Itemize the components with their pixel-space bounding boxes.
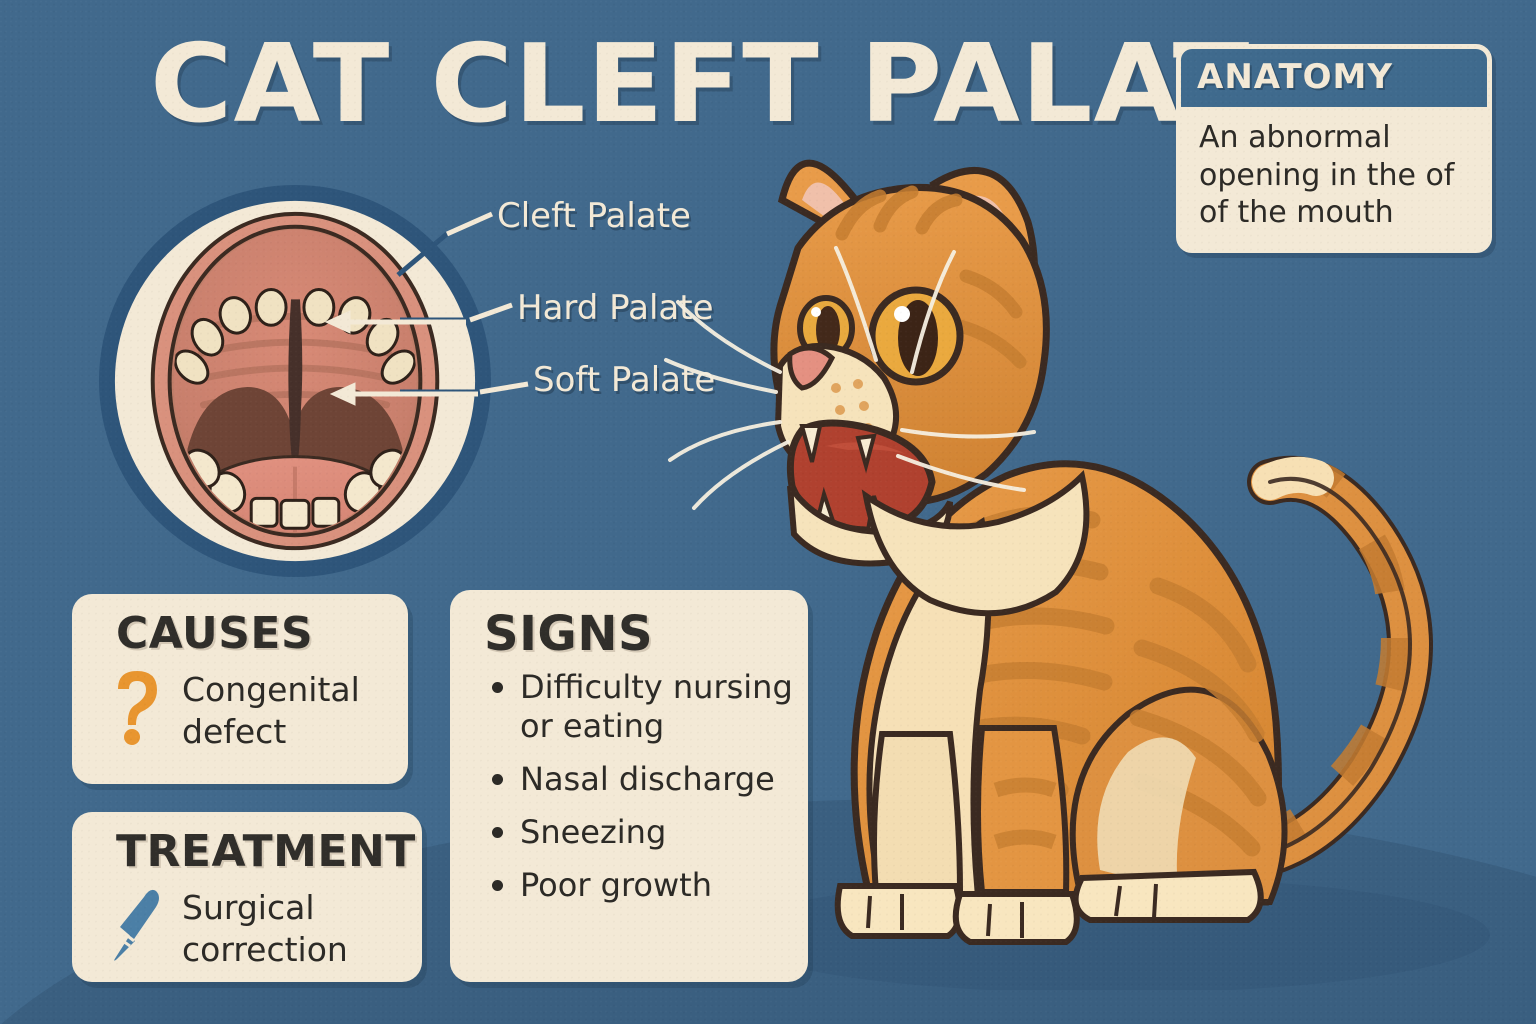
page-title: CAT CLEFT PALAT [150, 34, 1250, 137]
treatment-text: Surgical correction [182, 883, 404, 971]
list-item: Poor growth [490, 866, 798, 905]
causes-text: Congenital defect [182, 665, 390, 753]
signs-panel: SIGNS Difficulty nursing or eating Nasal… [450, 590, 808, 982]
infographic-poster: CAT CLEFT PALAT ANATOMY An abnormal open… [0, 0, 1536, 1024]
list-item: Nasal discharge [490, 760, 798, 799]
cat-paw-front-right [956, 894, 1077, 942]
cat-hind-paw [1076, 872, 1261, 920]
cat-paw-front-left [838, 886, 960, 936]
treatment-heading: TREATMENT [72, 812, 422, 877]
cat-eye-near [872, 290, 960, 382]
causes-heading: CAUSES [72, 594, 408, 659]
treatment-panel: TREATMENT Surgical correction [72, 812, 422, 982]
causes-panel: CAUSES Congenital defect [72, 594, 408, 784]
list-item: Difficulty nursing or eating [490, 668, 798, 746]
cleft-palate-diagram [96, 182, 494, 580]
signs-list: Difficulty nursing or eating Nasal disch… [450, 668, 808, 905]
anatomy-card-heading: ANATOMY [1181, 49, 1487, 107]
signs-heading: SIGNS [450, 590, 808, 664]
question-mark-icon [108, 665, 166, 747]
cat-head [666, 163, 1086, 613]
scalpel-icon [108, 883, 166, 965]
list-item: Sneezing [490, 813, 798, 852]
